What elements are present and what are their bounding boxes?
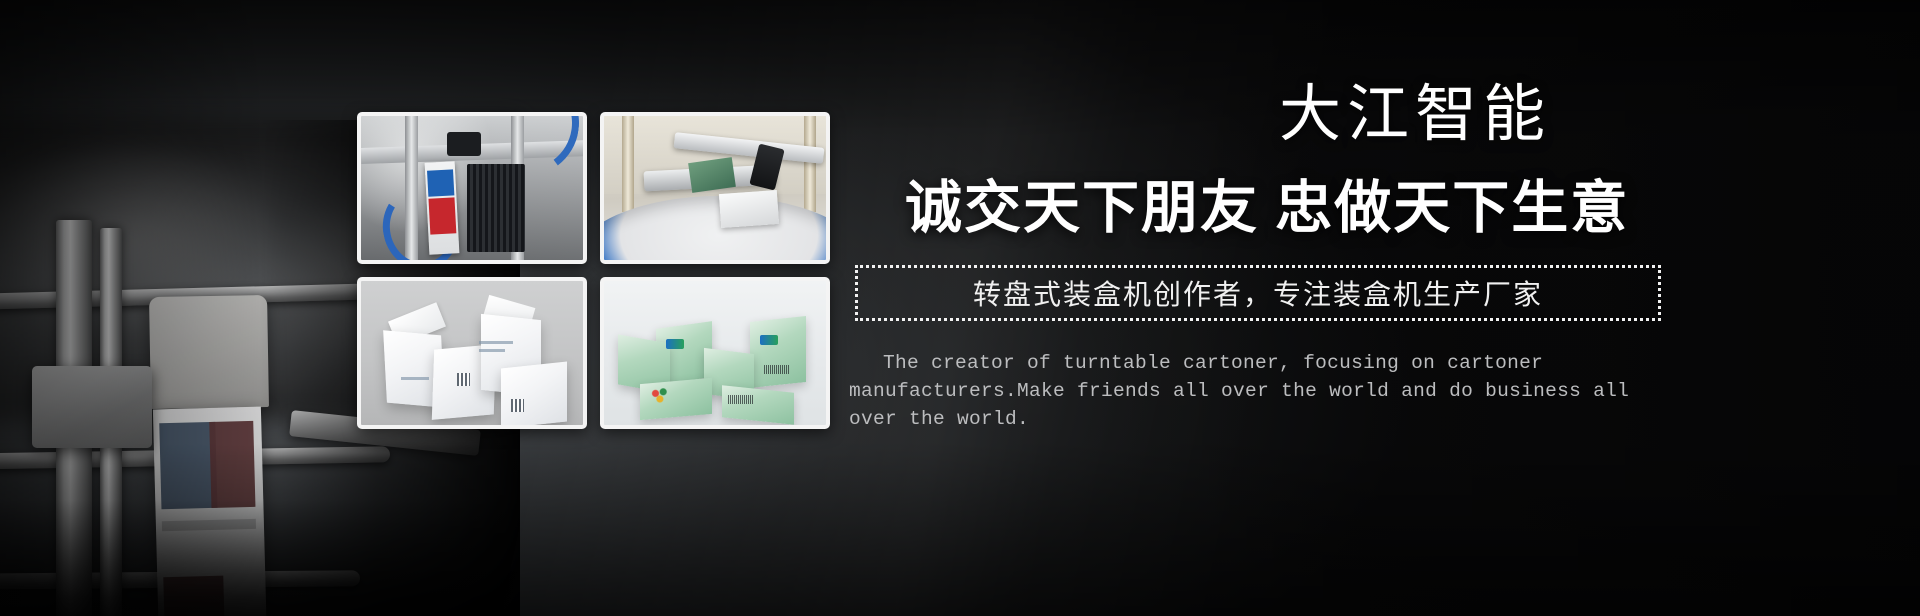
product-photo-robot-arm[interactable] (600, 112, 830, 264)
promo-banner: 大江智能 诚交天下朋友 忠做天下生意 转盘式装盒机创作者，专注装盒机生产厂家 T… (0, 0, 1920, 616)
product-photo-labeling-machine[interactable] (357, 112, 587, 264)
subtitle-text: 转盘式装盒机创作者，专注装盒机生产厂家 (973, 273, 1543, 313)
product-photo-white-cartons[interactable] (357, 277, 587, 429)
product-photo-green-boxes[interactable] (600, 277, 830, 429)
banner-text-block: 大江智能 诚交天下朋友 忠做天下生意 转盘式装盒机创作者，专注装盒机生产厂家 T… (905, 84, 1805, 564)
subtitle-dotted-box: 转盘式装盒机创作者，专注装盒机生产厂家 (855, 265, 1661, 321)
product-photo-grid (357, 112, 830, 434)
english-description: The creator of turntable cartoner, focus… (849, 349, 1667, 434)
banner-headline: 诚交天下朋友 忠做天下生意 (905, 179, 1805, 239)
brand-title: 大江智能 (1065, 84, 1765, 146)
